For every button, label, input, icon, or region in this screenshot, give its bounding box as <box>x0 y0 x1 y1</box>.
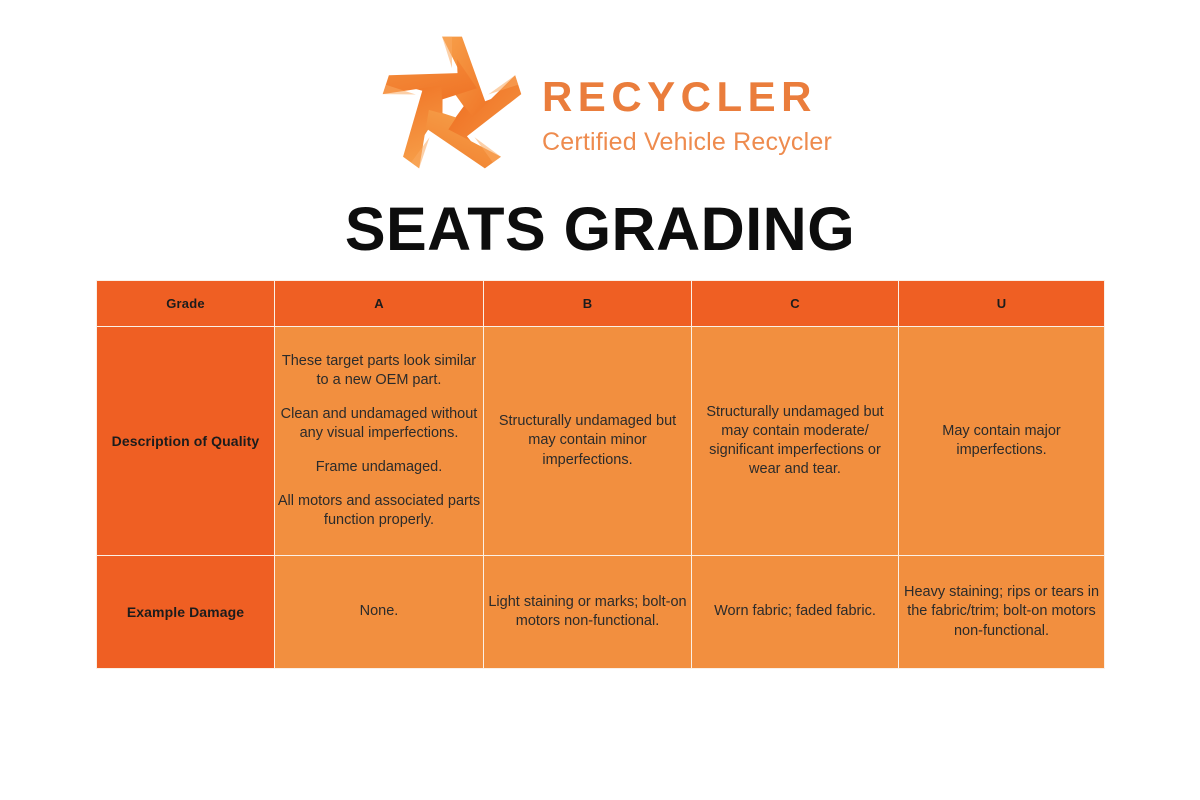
row-label-description-of-quality: Description of Quality <box>97 327 275 556</box>
logo-wordmark: RECYCLER Certified Vehicle Recycler <box>542 50 832 155</box>
cell-paragraph: Heavy staining; rips or tears in the fab… <box>899 583 1104 640</box>
header-cell-a: A <box>275 281 484 327</box>
row-label-example-damage: Example Damage <box>97 556 275 669</box>
cell-description-c: Structurally undamaged but may contain m… <box>692 327 899 556</box>
cell-description-b: Structurally undamaged but may contain m… <box>484 327 692 556</box>
recycling-star-logo-icon <box>368 30 536 175</box>
header-cell-grade: Grade <box>97 281 275 327</box>
cell-paragraph: Structurally undamaged but may contain m… <box>692 403 898 480</box>
cell-example-a: None. <box>275 556 484 669</box>
cell-paragraph: None. <box>275 602 483 621</box>
header-cell-b: B <box>484 281 692 327</box>
table-row: Example Damage None. Light staining or m… <box>97 556 1105 669</box>
cell-description-u: May contain major imperfections. <box>899 327 1105 556</box>
header-cell-c: C <box>692 281 899 327</box>
cell-paragraph: Structurally undamaged but may contain m… <box>484 412 691 469</box>
cell-description-a: These target parts look similar to a new… <box>275 327 484 556</box>
cell-paragraph: Frame undamaged. <box>275 458 483 477</box>
logo-name: RECYCLER <box>542 76 832 118</box>
header-cell-u: U <box>899 281 1105 327</box>
cell-example-u: Heavy staining; rips or tears in the fab… <box>899 556 1105 669</box>
cell-paragraph: These target parts look similar to a new… <box>275 352 483 390</box>
cell-example-b: Light staining or marks; bolt-on motors … <box>484 556 692 669</box>
page-title: SEATS GRADING <box>0 196 1200 263</box>
brand-logo: RECYCLER Certified Vehicle Recycler <box>0 30 1200 175</box>
cell-paragraph: Light staining or marks; bolt-on motors … <box>484 593 691 631</box>
table-header-row: Grade A B C U <box>97 281 1105 327</box>
grading-sheet-page: RECYCLER Certified Vehicle Recycler SEAT… <box>0 0 1200 800</box>
cell-paragraph: Clean and undamaged without any visual i… <box>275 405 483 443</box>
seats-grading-table: Grade A B C U Description of Quality The… <box>96 280 1105 669</box>
cell-example-c: Worn fabric; faded fabric. <box>692 556 899 669</box>
logo-tagline: Certified Vehicle Recycler <box>542 130 832 155</box>
cell-paragraph: Worn fabric; faded fabric. <box>692 602 898 621</box>
cell-paragraph: All motors and associated parts function… <box>275 492 483 530</box>
cell-paragraph: May contain major imperfections. <box>899 422 1104 460</box>
logo-inner: RECYCLER Certified Vehicle Recycler <box>368 30 832 175</box>
table-row: Description of Quality These target part… <box>97 327 1105 556</box>
